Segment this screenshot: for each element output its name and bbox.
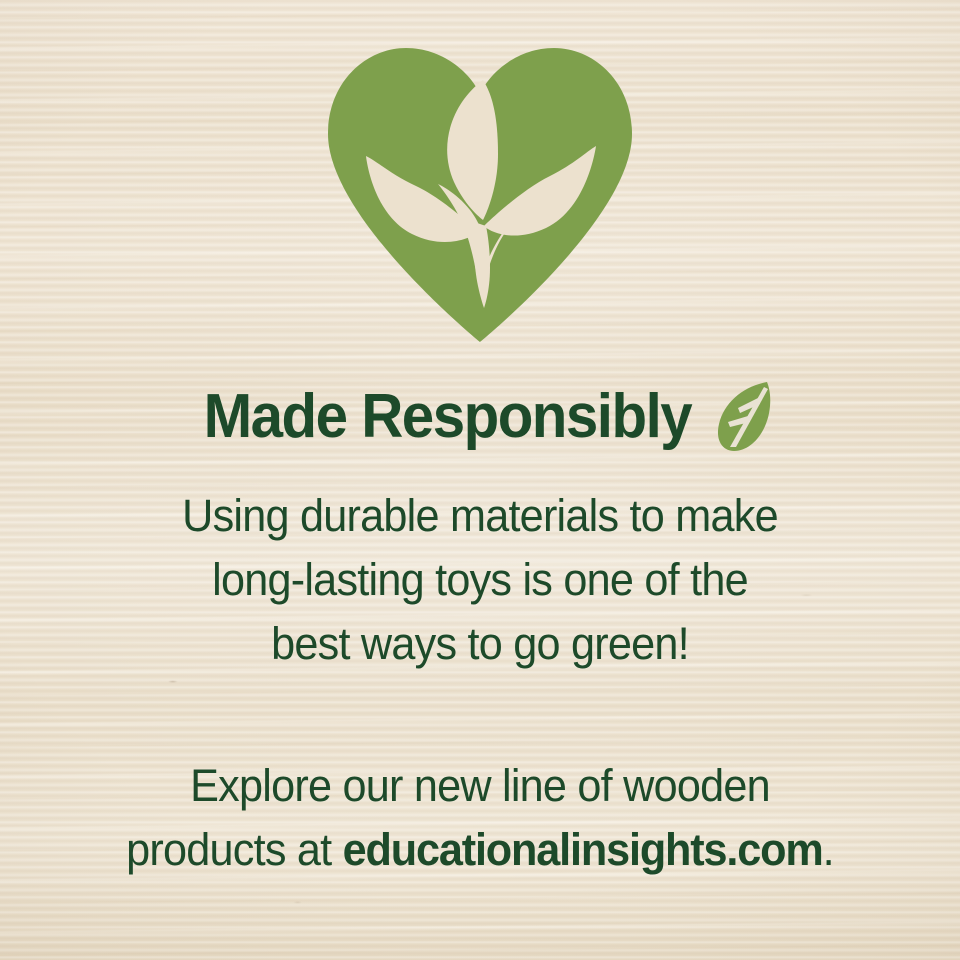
poster-content: Made Responsibly Using durable materials…: [0, 0, 960, 960]
page-title: Made Responsibly: [203, 381, 691, 452]
cta-line-2: products at educationalinsights.com.: [29, 818, 931, 882]
cta-line-1: Explore our new line of wooden: [29, 754, 931, 818]
cta-paragraph: Explore our new line of wooden products …: [10, 754, 950, 882]
website-url[interactable]: educationalinsights.com: [343, 824, 823, 875]
body-line-3: best ways to go green!: [58, 612, 903, 676]
made-responsibly-poster: Made Responsibly Using durable materials…: [0, 0, 960, 960]
cta-suffix: .: [823, 824, 834, 875]
cta-prefix: products at: [126, 824, 343, 875]
headline-row: Made Responsibly: [188, 378, 773, 454]
body-line-1: Using durable materials to make: [58, 484, 903, 548]
body-paragraph: Using durable materials to make long-las…: [40, 484, 920, 676]
heart-with-sprout-icon: [320, 42, 640, 342]
leaf-icon: [714, 378, 772, 454]
body-line-2: long-lasting toys is one of the: [58, 548, 903, 612]
